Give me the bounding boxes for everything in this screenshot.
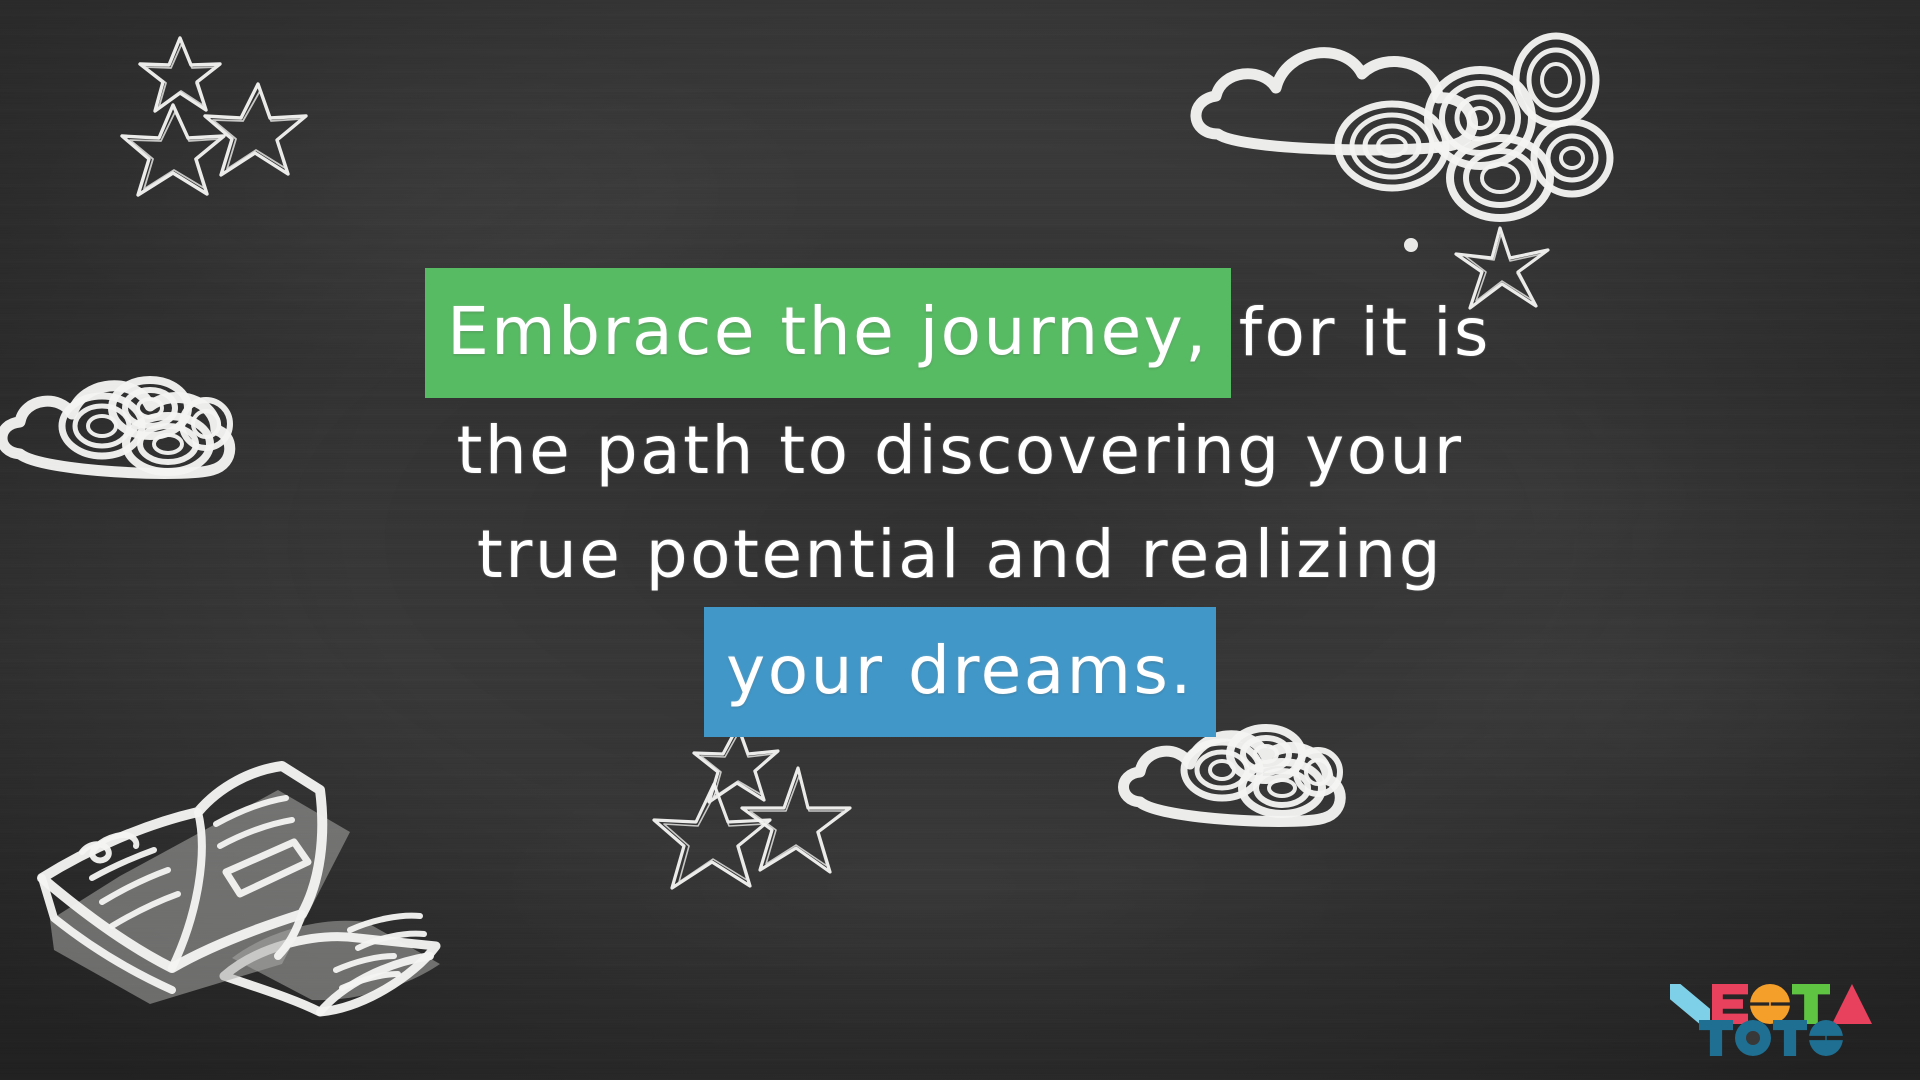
logo-letter-s [1750, 984, 1790, 1024]
logo-wordmark-tots [1670, 1020, 1872, 1056]
dot-icon [1404, 238, 1418, 252]
cloud-scribble [1184, 728, 1340, 814]
book-icon [42, 766, 440, 1012]
nesta-tots-logo[interactable]: NESTA TOTS [1670, 984, 1872, 1056]
cloud-top-right [1180, 18, 1600, 248]
logo-letter-t3 [1773, 1020, 1807, 1056]
star-icon [694, 726, 778, 802]
logo-letter-o2 [1735, 1020, 1771, 1056]
quote-line-1: Embrace the journey,for it is [0, 268, 1920, 398]
stars-top-left [118, 20, 318, 180]
quote-line-2: the path to discovering your [0, 398, 1920, 503]
star-icon [205, 84, 306, 175]
star-icon [654, 784, 770, 888]
star-icon [140, 38, 220, 111]
quote-line-3: true potential and realizing [0, 503, 1920, 608]
quote-segment-plain: true potential and realizing [471, 503, 1449, 607]
quote-line-4: your dreams. [0, 607, 1920, 737]
quote-block: Embrace the journey,for it is the path t… [0, 268, 1920, 737]
dot-right [1398, 232, 1428, 262]
quote-segment-highlighted-green: Embrace the journey, [425, 268, 1231, 398]
logo-wordmark-nesta [1670, 984, 1872, 1024]
open-books-bottom-left [20, 750, 450, 1070]
logo-letter-a [1832, 984, 1872, 1024]
logo-letter-n [1670, 984, 1710, 1024]
logo-letter-t2 [1699, 1020, 1733, 1056]
logo-letter-t [1792, 984, 1830, 1024]
quote-segment-plain: for it is [1233, 281, 1497, 385]
cloud-icon [1196, 36, 1610, 218]
logo-letter-e [1712, 984, 1748, 1024]
quote-slide: Embrace the journey,for it is the path t… [0, 0, 1920, 1080]
quote-segment-plain: the path to discovering your [450, 399, 1469, 503]
quote-segment-highlighted-blue: your dreams. [704, 607, 1216, 737]
logo-letter-s2 [1809, 1020, 1843, 1056]
cloud-icon [1124, 728, 1341, 821]
stars-bottom-center [660, 718, 870, 908]
